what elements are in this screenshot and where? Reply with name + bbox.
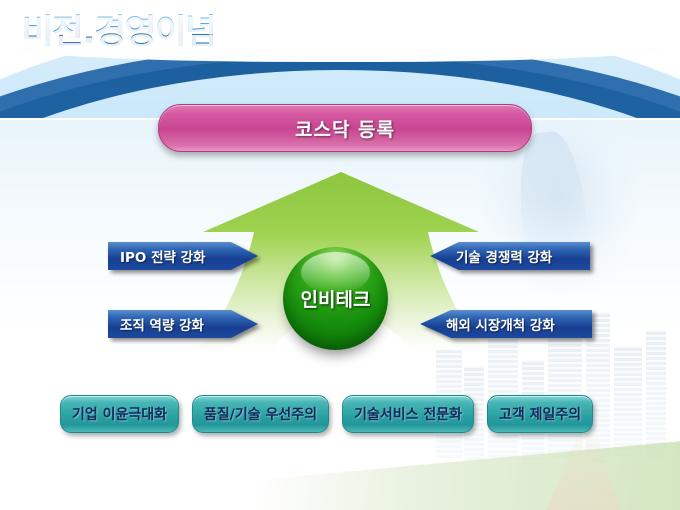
presentation-slide: 비전.경영이념 코스닥 등록 인비테크 IPO 전략 강화 조직 역 [0, 0, 680, 510]
strategy-arrow-tech[interactable]: 기술 경쟁력 강화 [430, 242, 590, 270]
principle-item[interactable]: 품질/기술 우선주의 [192, 395, 329, 433]
principle-item[interactable]: 기업 이윤극대화 [60, 395, 179, 433]
principles-row: 기업 이윤극대화 품질/기술 우선주의 기술서비스 전문화 고객 제일주의 [0, 393, 680, 435]
principle-label: 기업 이윤극대화 [72, 404, 167, 424]
principle-label: 품질/기술 우선주의 [204, 404, 317, 424]
goal-label: 코스닥 등록 [295, 115, 395, 142]
strategy-label-ipo: IPO 전략 강화 [120, 246, 205, 266]
strategy-label-global: 해외 시장개척 강화 [446, 314, 555, 334]
page-title: 비전.경영이념 [22, 4, 216, 53]
company-name-label: 인비테크 [301, 285, 371, 312]
slide-header: 비전.경영이념 [0, 0, 680, 118]
company-core-badge: 인비테크 [283, 247, 388, 350]
goal-banner: 코스닥 등록 [158, 104, 532, 152]
principle-item[interactable]: 고객 제일주의 [487, 395, 593, 433]
strategy-label-org: 조직 역량 강화 [120, 314, 204, 334]
strategy-arrow-global[interactable]: 해외 시장개척 강화 [420, 310, 592, 338]
strategy-arrow-org[interactable]: 조직 역량 강화 [108, 310, 258, 338]
strategy-arrow-ipo[interactable]: IPO 전략 강화 [108, 242, 258, 270]
principle-item[interactable]: 기술서비스 전문화 [342, 395, 474, 433]
principle-label: 기술서비스 전문화 [354, 404, 462, 424]
principle-label: 고객 제일주의 [499, 404, 581, 424]
strategy-label-tech: 기술 경쟁력 강화 [456, 246, 552, 266]
